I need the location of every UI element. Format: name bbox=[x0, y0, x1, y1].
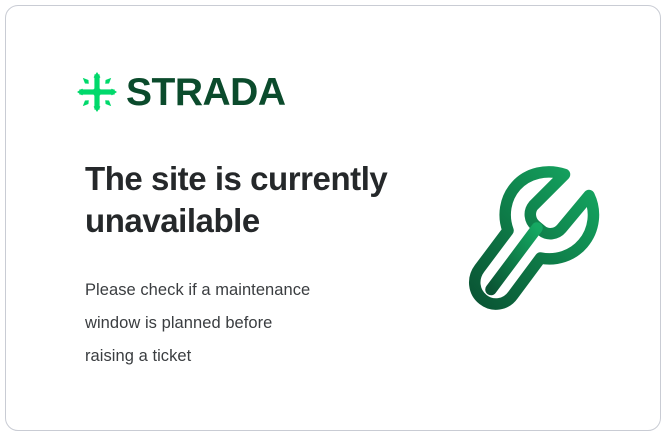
body-line: Please check if a maintenance bbox=[85, 274, 390, 307]
strada-asterisk-icon bbox=[77, 72, 117, 112]
maintenance-card: STRADA The site is currently unavailable… bbox=[5, 5, 661, 431]
body-line: raising a ticket bbox=[85, 340, 390, 373]
body-line: window is planned before bbox=[85, 307, 390, 340]
wrench-icon bbox=[461, 158, 617, 318]
page-title: The site is currently unavailable bbox=[85, 158, 415, 242]
brand-wordmark: STRADA bbox=[126, 73, 286, 112]
page-body: Please check if a maintenance window is … bbox=[85, 274, 390, 373]
brand-lockup: STRADA bbox=[77, 72, 286, 112]
